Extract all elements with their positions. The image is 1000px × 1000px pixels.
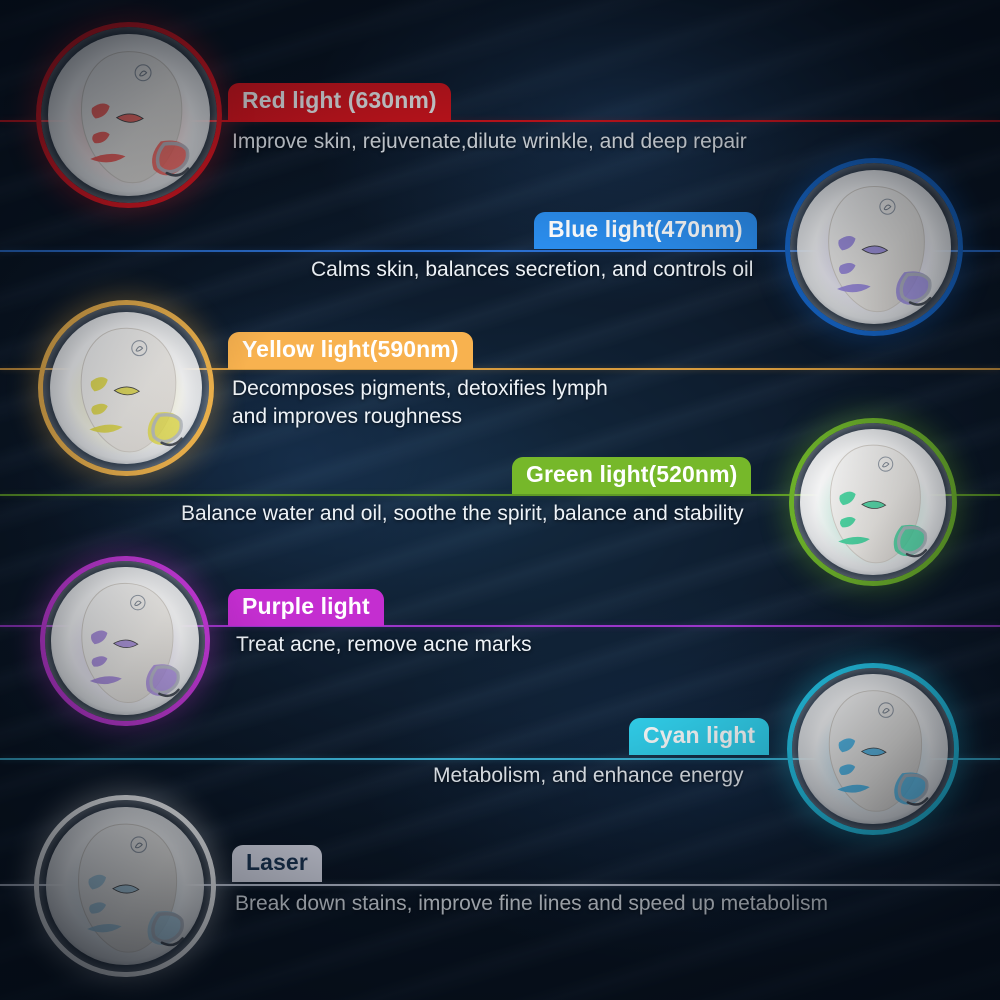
badge-yellow[interactable]: Yellow light(590nm) xyxy=(228,332,473,369)
badge-purple[interactable]: Purple light xyxy=(228,589,384,626)
description-yellow: Decomposes pigments, detoxifies lymph an… xyxy=(232,375,608,431)
description-red: Improve skin, rejuvenate,dilute wrinkle,… xyxy=(232,128,747,156)
led-face-mask-icon xyxy=(43,305,209,471)
badge-cyan[interactable]: Cyan light xyxy=(629,718,769,755)
badge-laser[interactable]: Laser xyxy=(232,845,322,882)
mask-image-cyan xyxy=(787,663,959,835)
mask-image-green xyxy=(789,418,957,586)
mask-image-yellow xyxy=(38,300,214,476)
badge-blue[interactable]: Blue light(470nm) xyxy=(534,212,757,249)
led-face-mask-icon xyxy=(41,27,217,203)
mask-image-purple xyxy=(40,556,210,726)
led-face-mask-icon xyxy=(790,163,958,331)
led-face-mask-icon xyxy=(794,423,952,581)
mask-image-blue xyxy=(785,158,963,336)
led-face-mask-icon xyxy=(39,800,211,972)
infographic-stage: Red light (630nm)Improve skin, rejuvenat… xyxy=(0,0,1000,1000)
led-face-mask-icon xyxy=(792,668,954,830)
description-cyan: Metabolism, and enhance energy xyxy=(433,762,744,790)
badge-red[interactable]: Red light (630nm) xyxy=(228,83,451,120)
description-green: Balance water and oil, soothe the spirit… xyxy=(181,500,744,528)
description-laser: Break down stains, improve fine lines an… xyxy=(235,890,828,918)
mask-image-laser xyxy=(34,795,216,977)
description-purple: Treat acne, remove acne marks xyxy=(236,631,532,659)
led-face-mask-icon xyxy=(45,561,205,721)
badge-green[interactable]: Green light(520nm) xyxy=(512,457,751,494)
description-blue: Calms skin, balances secretion, and cont… xyxy=(311,256,753,284)
mask-image-red xyxy=(36,22,222,208)
